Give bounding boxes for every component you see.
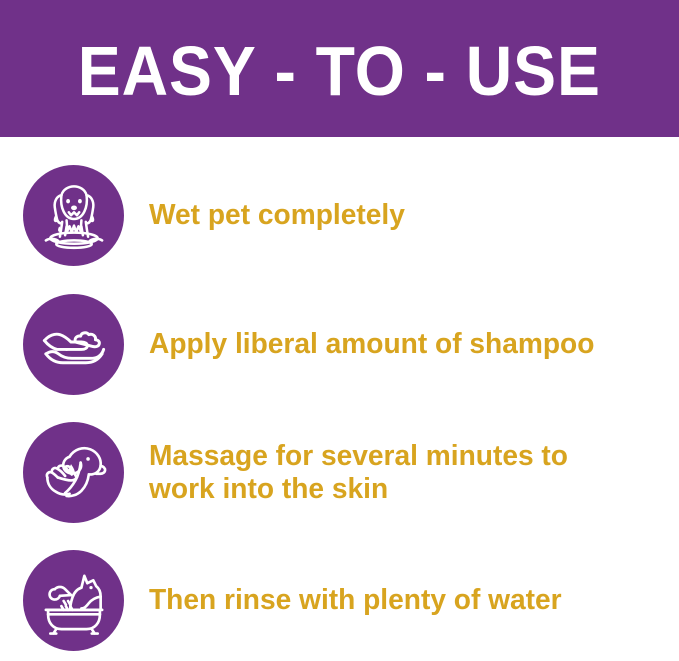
hand-with-shampoo-icon [23, 294, 124, 395]
step-row: Apply liberal amount of shampoo [0, 294, 679, 395]
page-title: EASY - TO - USE [78, 36, 601, 106]
step-row: Wet pet completely [0, 165, 679, 266]
dog-in-bathtub-shower-icon [23, 550, 124, 651]
hand-massaging-dog-icon [23, 422, 124, 523]
step-label: Wet pet completely [149, 199, 663, 232]
wet-dog-in-puddle-icon [23, 165, 124, 266]
step-label: Apply liberal amount of shampoo [149, 328, 663, 361]
step-label: Then rinse with plenty of water [149, 584, 663, 617]
step-row: Massage for several minutes to work into… [0, 422, 679, 523]
step-row: Then rinse with plenty of water [0, 550, 679, 651]
step-label: Massage for several minutes to work into… [149, 440, 663, 506]
steps-list: Wet pet completely Apply liberal amount … [0, 137, 679, 661]
header-banner: EASY - TO - USE [0, 0, 679, 137]
